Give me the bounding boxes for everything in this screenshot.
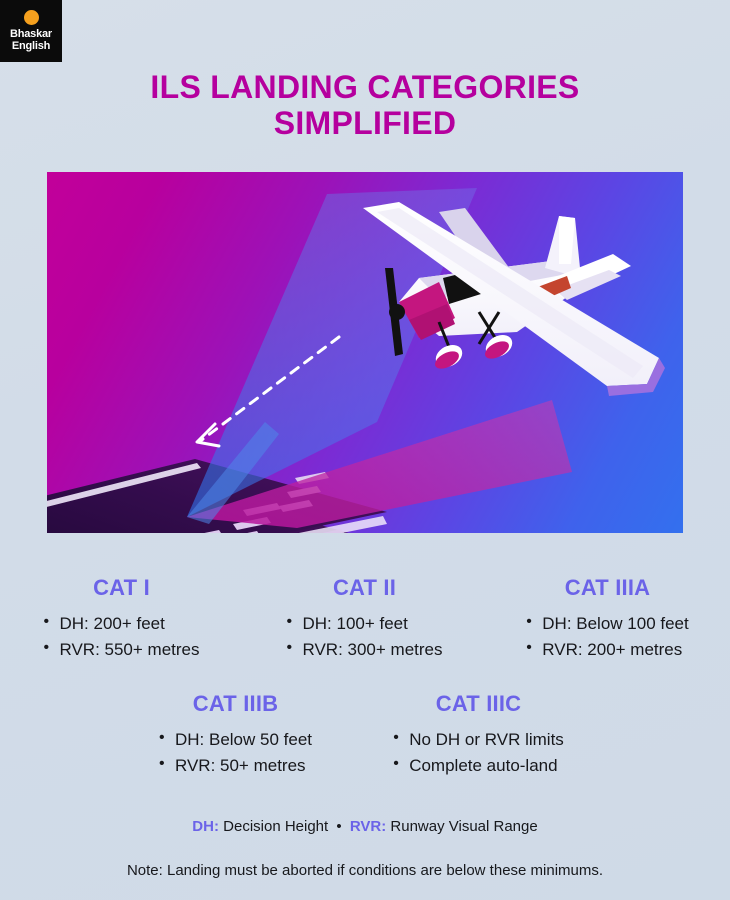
category-items: DH: Below 100 feet RVR: 200+ metres [526, 611, 688, 663]
category-items: DH: 200+ feet RVR: 550+ metres [43, 611, 199, 663]
category-row-secondary: CAT IIIB DH: Below 50 feet RVR: 50+ metr… [0, 691, 730, 779]
category-item: DH: 200+ feet [43, 611, 199, 637]
category-item: RVR: 300+ metres [286, 637, 442, 663]
category-item: Complete auto-land [393, 753, 564, 779]
category-cat-ii: CAT II DH: 100+ feet RVR: 300+ metres [243, 575, 486, 663]
category-cat-iiia: CAT IIIA DH: Below 100 feet RVR: 200+ me… [486, 575, 729, 663]
category-items: DH: 100+ feet RVR: 300+ metres [286, 611, 442, 663]
abbreviation-legend: DH: Decision Height • RVR: Runway Visual… [0, 818, 730, 835]
legend-rvr-abbr: RVR: [350, 818, 386, 835]
category-item: No DH or RVR limits [393, 727, 564, 753]
glide-path-arrow-icon [197, 424, 219, 446]
ils-scene-graphic [47, 172, 683, 533]
legend-dh-abbr: DH: [192, 818, 219, 835]
brand-name-line1: Bhaskar [10, 29, 52, 40]
category-item: RVR: 50+ metres [159, 753, 312, 779]
category-item: DH: Below 50 feet [159, 727, 312, 753]
category-item: RVR: 550+ metres [43, 637, 199, 663]
category-item: RVR: 200+ metres [526, 637, 688, 663]
legend-rvr-text: Runway Visual Range [390, 818, 537, 835]
page-title-line2: SIMPLIFIED [0, 106, 730, 142]
ils-illustration [47, 172, 683, 533]
category-cat-iiic: CAT IIIC No DH or RVR limits Complete au… [357, 691, 600, 779]
category-title: CAT IIIA [565, 575, 651, 601]
legend-separator: • [336, 818, 341, 835]
infographic-poster: Bhaskar English ILS LANDING CATEGORIES S… [0, 0, 730, 900]
category-item: DH: Below 100 feet [526, 611, 688, 637]
category-item: DH: 100+ feet [286, 611, 442, 637]
brand-dot-icon [24, 10, 39, 25]
brand-logo: Bhaskar English [0, 0, 62, 62]
category-row-primary: CAT I DH: 200+ feet RVR: 550+ metres CAT… [0, 575, 730, 663]
page-title-line1: ILS LANDING CATEGORIES [0, 70, 730, 106]
category-items: No DH or RVR limits Complete auto-land [393, 727, 564, 779]
brand-name-line2: English [12, 41, 50, 52]
legend-dh-text: Decision Height [223, 818, 328, 835]
category-cat-iiib: CAT IIIB DH: Below 50 feet RVR: 50+ metr… [114, 691, 357, 779]
aircraft [363, 202, 665, 396]
page-title: ILS LANDING CATEGORIES SIMPLIFIED [0, 70, 730, 142]
category-title: CAT IIIC [436, 691, 522, 717]
category-title: CAT II [333, 575, 396, 601]
category-items: DH: Below 50 feet RVR: 50+ metres [159, 727, 312, 779]
footer-note: Note: Landing must be aborted if conditi… [0, 862, 730, 879]
category-title: CAT I [93, 575, 150, 601]
category-title: CAT IIIB [193, 691, 279, 717]
category-cat-i: CAT I DH: 200+ feet RVR: 550+ metres [0, 575, 243, 663]
